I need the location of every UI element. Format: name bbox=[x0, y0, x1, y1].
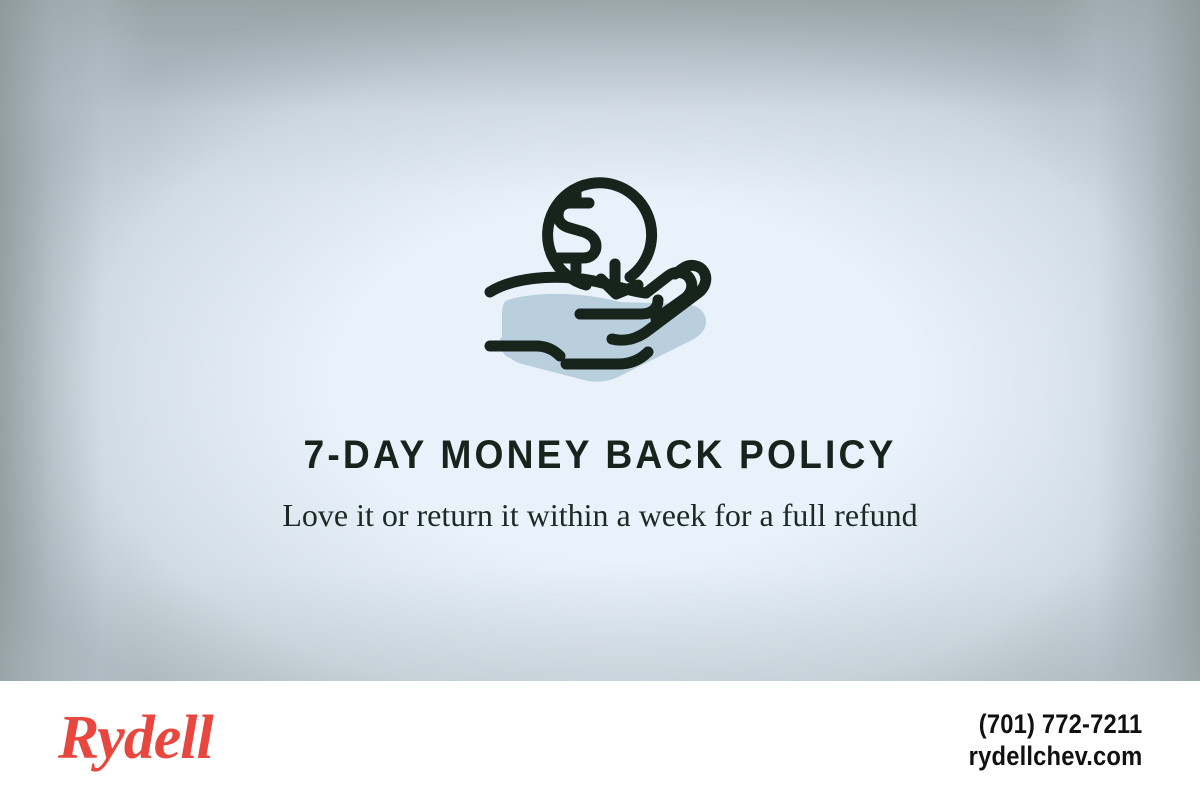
footer-bar: Rydell (701) 772-7211 rydellchev.com bbox=[0, 681, 1200, 800]
hero-panel: 7-DAY MONEY BACK POLICY Love it or retur… bbox=[0, 0, 1200, 681]
promo-banner: 7-DAY MONEY BACK POLICY Love it or retur… bbox=[0, 0, 1200, 800]
page-subtitle: Love it or return it within a week for a… bbox=[250, 492, 950, 538]
contact-info: (701) 772-7211 rydellchev.com bbox=[945, 709, 1142, 773]
website-url[interactable]: rydellchev.com bbox=[968, 741, 1142, 773]
dollar-sign-icon bbox=[558, 191, 596, 271]
return-arrow-circle bbox=[548, 183, 652, 285]
vignette-bottom bbox=[0, 571, 1200, 681]
money-back-hand-icon bbox=[470, 152, 730, 397]
rydell-logo[interactable]: Rydell bbox=[58, 707, 213, 775]
phone-number[interactable]: (701) 772-7211 bbox=[968, 709, 1142, 741]
page-title: 7-DAY MONEY BACK POLICY bbox=[42, 433, 1158, 478]
